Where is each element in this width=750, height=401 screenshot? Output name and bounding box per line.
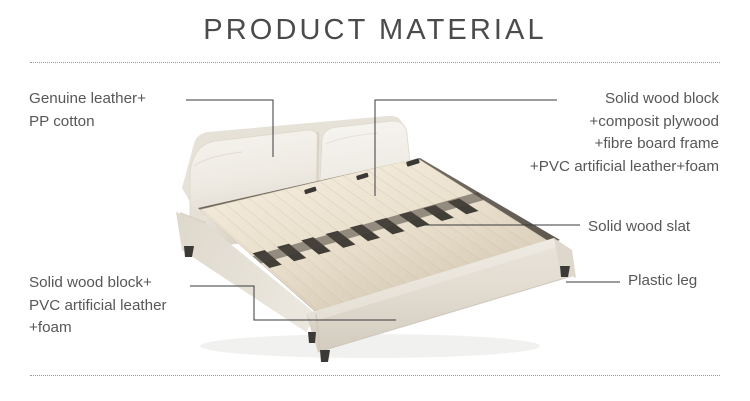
floor-shadow [200,334,540,358]
page-title: PRODUCT MATERIAL [0,14,750,47]
callout-solid-wood-block-pvc-foam: Solid wood block+ PVC artificial leather… [29,272,167,340]
divider-bottom [30,375,720,376]
callout-solid-wood-slat: Solid wood slat [588,216,690,239]
bed-illustration [120,100,580,365]
callout-plastic-leg: Plastic leg [628,270,697,293]
plastic-leg-front [320,350,330,362]
plastic-leg-left [308,332,316,343]
callout-solid-wood-block-frame: Solid wood block +composit plywood +fibr… [530,88,719,178]
product-material-infographic: PRODUCT MATERIAL [0,0,750,401]
divider-top [30,62,720,63]
callout-genuine-leather-pp-cotton: Genuine leather+ PP cotton [29,88,146,133]
